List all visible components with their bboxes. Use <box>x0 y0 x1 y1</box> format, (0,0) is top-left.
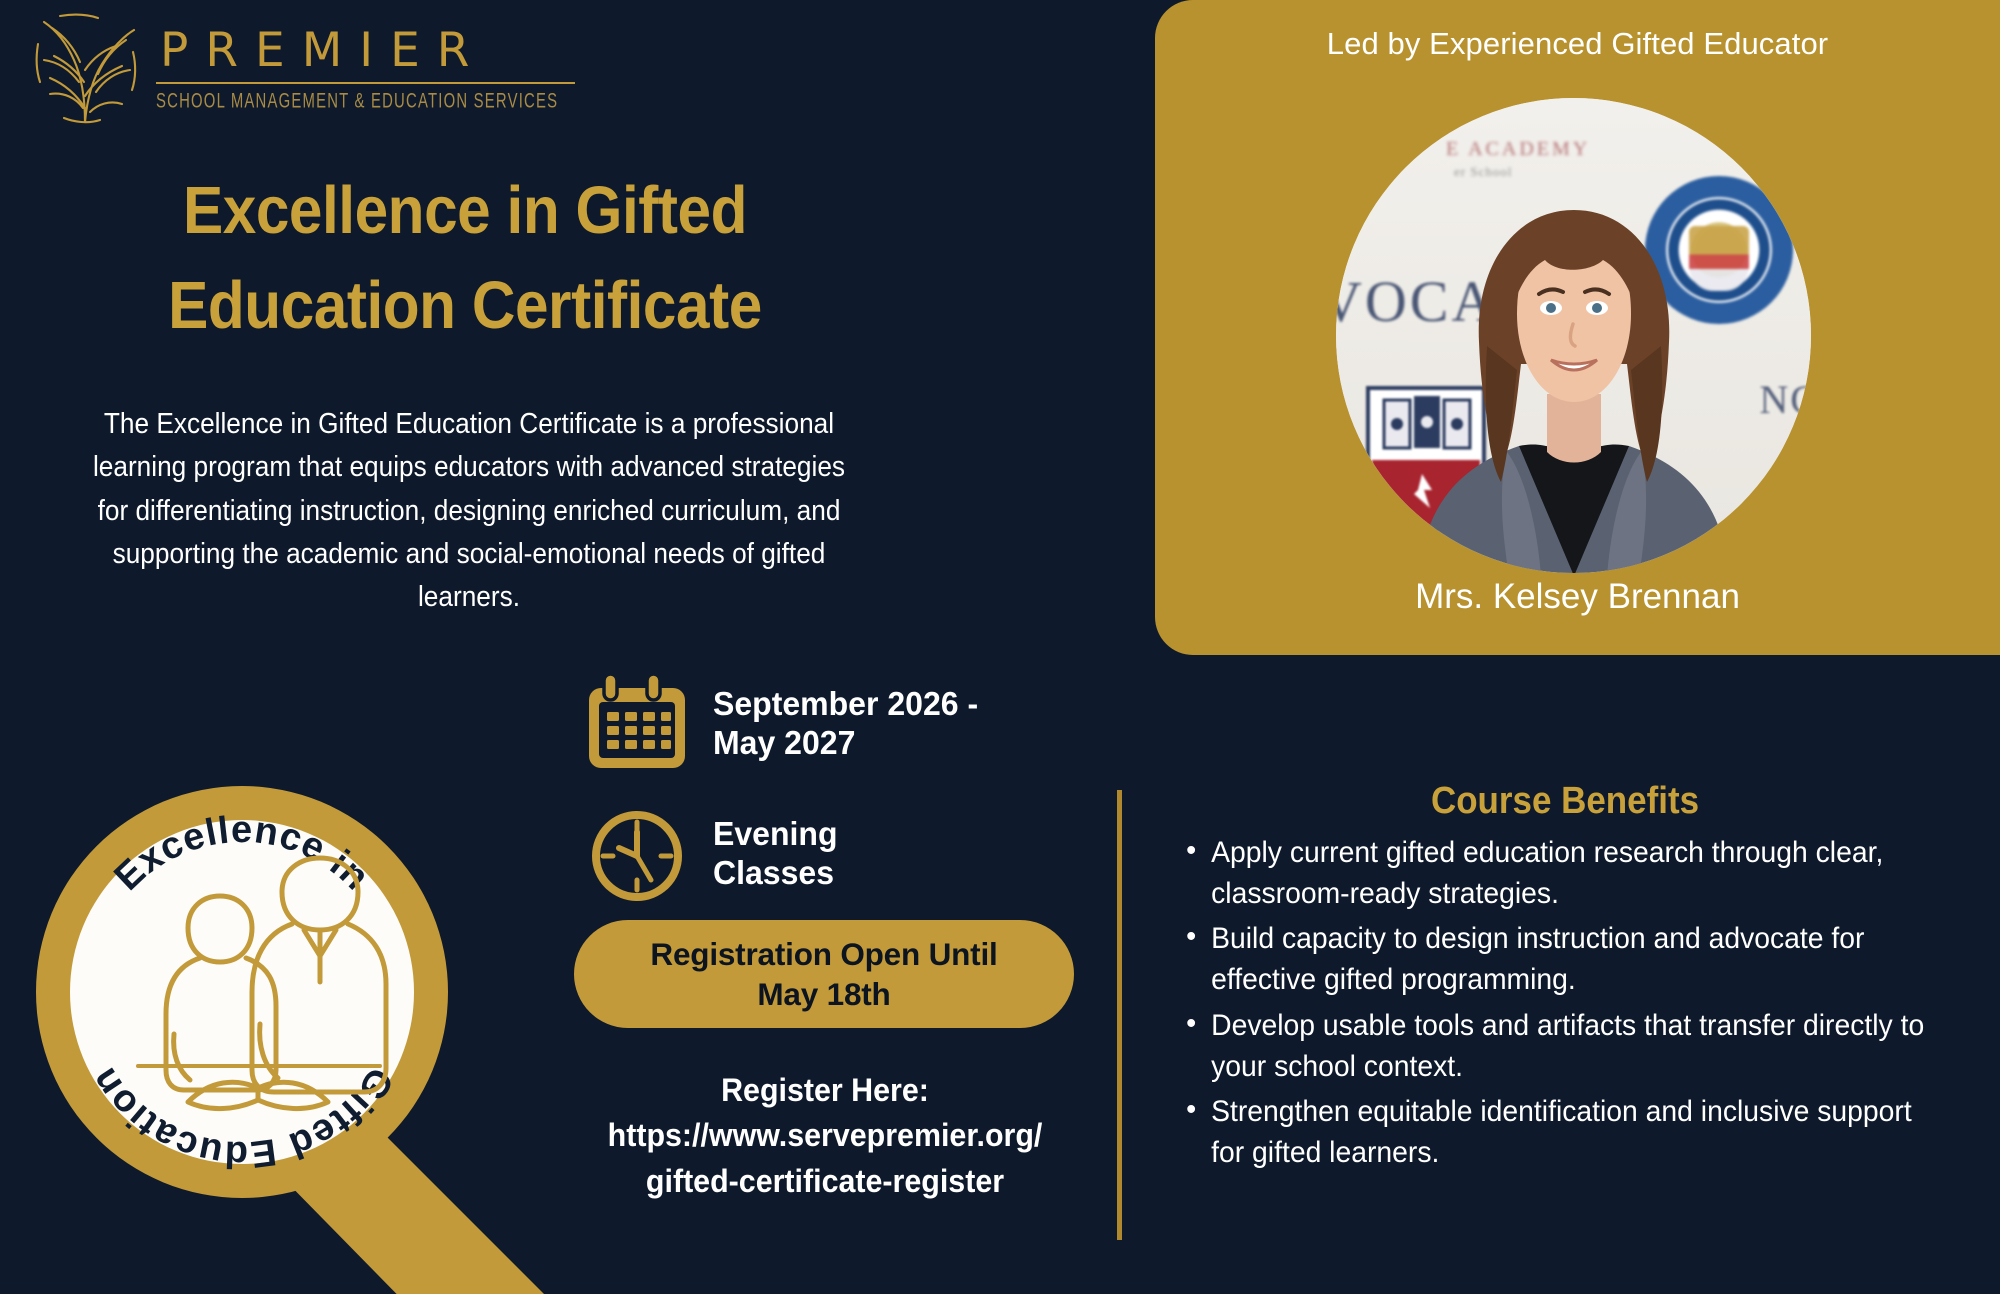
flyer-canvas: PREMIER SCHOOL MANAGEMENT & EDUCATION SE… <box>0 0 2000 1294</box>
schedule-dates-line2: May 2027 <box>713 724 978 763</box>
magnifier-students-reading-icon: Excellence in Gifted Education <box>20 770 640 1294</box>
registration-deadline-button[interactable]: Registration Open Until May 18th <box>574 920 1074 1028</box>
schedule-list: September 2026 - May 2027 Evening Class <box>585 672 1005 932</box>
tree-roots-circle-icon <box>30 8 140 126</box>
brand-logo: PREMIER SCHOOL MANAGEMENT & EDUCATION SE… <box>30 8 575 126</box>
benefits-title: Course Benefits <box>1183 780 1947 823</box>
schedule-dates-line1: September 2026 - <box>713 685 978 724</box>
schedule-time-text: Evening Classes <box>713 815 838 893</box>
logo-wordmark: PREMIER <box>156 26 575 75</box>
educator-panel: Led by Experienced Gifted Educator E ACA… <box>1155 0 2000 655</box>
schedule-item-time: Evening Classes <box>585 802 1005 906</box>
list-item: Strengthen equitable identification and … <box>1190 1092 1948 1173</box>
benefits-divider <box>1117 790 1122 1240</box>
benefits-list: Apply current gifted education research … <box>1150 833 1980 1174</box>
registration-deadline-label: Registration Open Until May 18th <box>650 934 997 1015</box>
schedule-item-dates: September 2026 - May 2027 <box>585 672 1005 776</box>
cta-line1: Registration Open Until <box>650 934 997 974</box>
schedule-time-line2: Classes <box>713 854 838 893</box>
calendar-icon <box>585 672 689 776</box>
educator-kicker: Led by Experienced Gifted Educator <box>1155 26 2000 62</box>
logo-divider <box>156 82 575 84</box>
schedule-time-line1: Evening <box>713 815 838 854</box>
list-item: Build capacity to design instruction and… <box>1190 919 1948 1000</box>
list-item: Develop usable tools and artifacts that … <box>1190 1006 1948 1087</box>
benefits-section: Course Benefits Apply current gifted edu… <box>1150 780 1980 1179</box>
cta-line2: May 18th <box>650 974 997 1014</box>
list-item: Apply current gifted education research … <box>1190 833 1948 914</box>
logo-tagline: SCHOOL MANAGEMENT & EDUCATION SERVICES <box>156 90 558 114</box>
educator-photo: E ACADEMY er School VOCACY NC <box>1336 98 1811 573</box>
schedule-dates-text: September 2026 - May 2027 <box>713 685 978 763</box>
page-title: Excellence in Gifted Education Certifica… <box>101 163 830 353</box>
person-portrait <box>1359 146 1789 573</box>
intro-paragraph: The Excellence in Gifted Education Certi… <box>82 403 857 620</box>
educator-name: Mrs. Kelsey Brennan <box>1155 577 2000 617</box>
